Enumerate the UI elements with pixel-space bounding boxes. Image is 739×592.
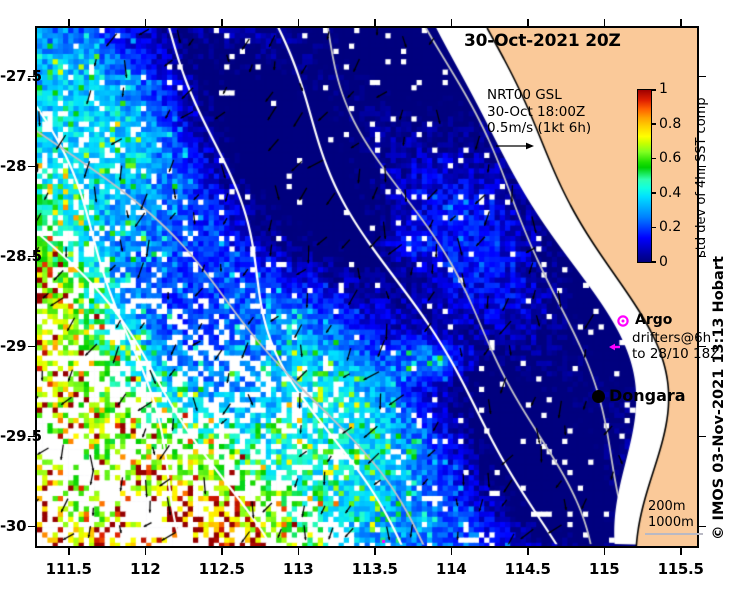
x-axis-tickmark: [451, 19, 453, 26]
colorbar-label-04: 0.4: [659, 185, 681, 201]
x-axis-label: 112.5: [199, 560, 245, 578]
colorbar-label-0: 0: [659, 254, 668, 270]
contour-legend-1000m: 1000m: [648, 515, 694, 531]
legend-drifters-line2: to 28/10 18Z: [632, 346, 719, 362]
x-axis-label: 114: [436, 560, 466, 578]
sst-heatmap-canvas: [37, 28, 697, 546]
y-axis-label: -28.5: [0, 247, 26, 265]
y-axis-tickmark: [699, 76, 706, 78]
dongara-marker: [592, 390, 605, 403]
colorbar-tick: [652, 227, 656, 229]
colorbar-label-02: 0.2: [659, 219, 681, 235]
legend-drifters: drifters@6h to 28/10 18Z: [632, 330, 719, 362]
contour-legend-line: [645, 533, 703, 535]
sst-variance-map[interactable]: [35, 26, 699, 548]
x-axis-label: 115.5: [658, 560, 704, 578]
colorbar-gradient: [637, 89, 652, 263]
y-axis-tickmark: [28, 166, 35, 168]
x-axis-label: 115: [589, 560, 619, 578]
x-axis-tickmark: [374, 19, 376, 26]
colorbar-tick: [652, 89, 656, 91]
y-axis-tickmark: [699, 256, 706, 258]
y-axis-tickmark: [699, 166, 706, 168]
x-axis-label: 114.5: [505, 560, 551, 578]
x-axis-tickmark: [221, 548, 223, 555]
x-axis-tickmark: [145, 19, 147, 26]
current-source-line1: NRT00 GSL: [487, 87, 591, 104]
x-axis-tickmark: [604, 19, 606, 26]
x-axis-tickmark: [298, 19, 300, 26]
reference-vector-arrow-icon: [495, 140, 535, 152]
contour-legend-200m: 200m: [648, 499, 694, 515]
colorbar-label-06: 0.6: [659, 150, 681, 166]
colorbar-tick: [652, 158, 656, 160]
x-axis-tickmark: [604, 548, 606, 555]
x-axis-tickmark: [68, 19, 70, 26]
legend-drifters-line1: drifters@6h: [632, 330, 719, 346]
y-axis-label: -30: [0, 517, 26, 535]
y-axis-label: -27.5: [0, 67, 26, 85]
current-source-line2: 30-Oct 18:00Z: [487, 104, 591, 121]
y-axis-label: -28: [0, 157, 26, 175]
x-axis-tickmark: [145, 548, 147, 555]
x-axis-tickmark: [680, 548, 682, 555]
x-axis-tickmark: [298, 548, 300, 555]
y-axis-tickmark: [699, 436, 706, 438]
copyright-text: © IMOS 03-Nov-2021 13:13 Hobart: [711, 256, 727, 540]
y-axis-label: -29: [0, 337, 26, 355]
colorbar-title: std dev of 4hr SST comp: [694, 97, 709, 257]
y-axis-tickmark: [28, 346, 35, 348]
current-source-annotation: NRT00 GSL 30-Oct 18:00Z 0.5m/s (1kt 6h): [487, 87, 591, 137]
current-scale-label: 0.5m/s (1kt 6h): [487, 120, 591, 137]
x-axis-tickmark: [451, 548, 453, 555]
y-axis-tickmark: [699, 526, 706, 528]
x-axis-tickmark: [527, 19, 529, 26]
map-figure: 30-Oct-2021 20Z NRT00 GSL 30-Oct 18:00Z …: [0, 0, 739, 592]
colorbar-label-1: 1: [659, 81, 668, 97]
x-axis-tickmark: [680, 19, 682, 26]
drifter-vector-icon: [608, 341, 622, 353]
x-axis-label: 111.5: [46, 560, 92, 578]
dongara-label: Dongara: [609, 386, 686, 405]
x-axis-tickmark: [221, 19, 223, 26]
x-axis-tickmark: [68, 548, 70, 555]
x-axis-label: 113: [283, 560, 313, 578]
x-axis-tickmark: [527, 548, 529, 555]
colorbar-tick: [652, 123, 656, 125]
legend-argo-label: Argo: [635, 312, 672, 328]
x-axis-label: 112: [130, 560, 160, 578]
y-axis-label: -29.5: [0, 427, 26, 445]
colorbar-label-08: 0.8: [659, 116, 681, 132]
colorbar-tick: [652, 261, 656, 263]
argo-float-icon: [617, 315, 629, 327]
colorbar-tick: [652, 192, 656, 194]
y-axis-tickmark: [699, 346, 706, 348]
x-axis-tickmark: [374, 548, 376, 555]
map-title: 30-Oct-2021 20Z: [464, 31, 621, 51]
x-axis-label: 113.5: [352, 560, 398, 578]
y-axis-tickmark: [28, 526, 35, 528]
contour-legend: 200m 1000m: [648, 499, 694, 531]
